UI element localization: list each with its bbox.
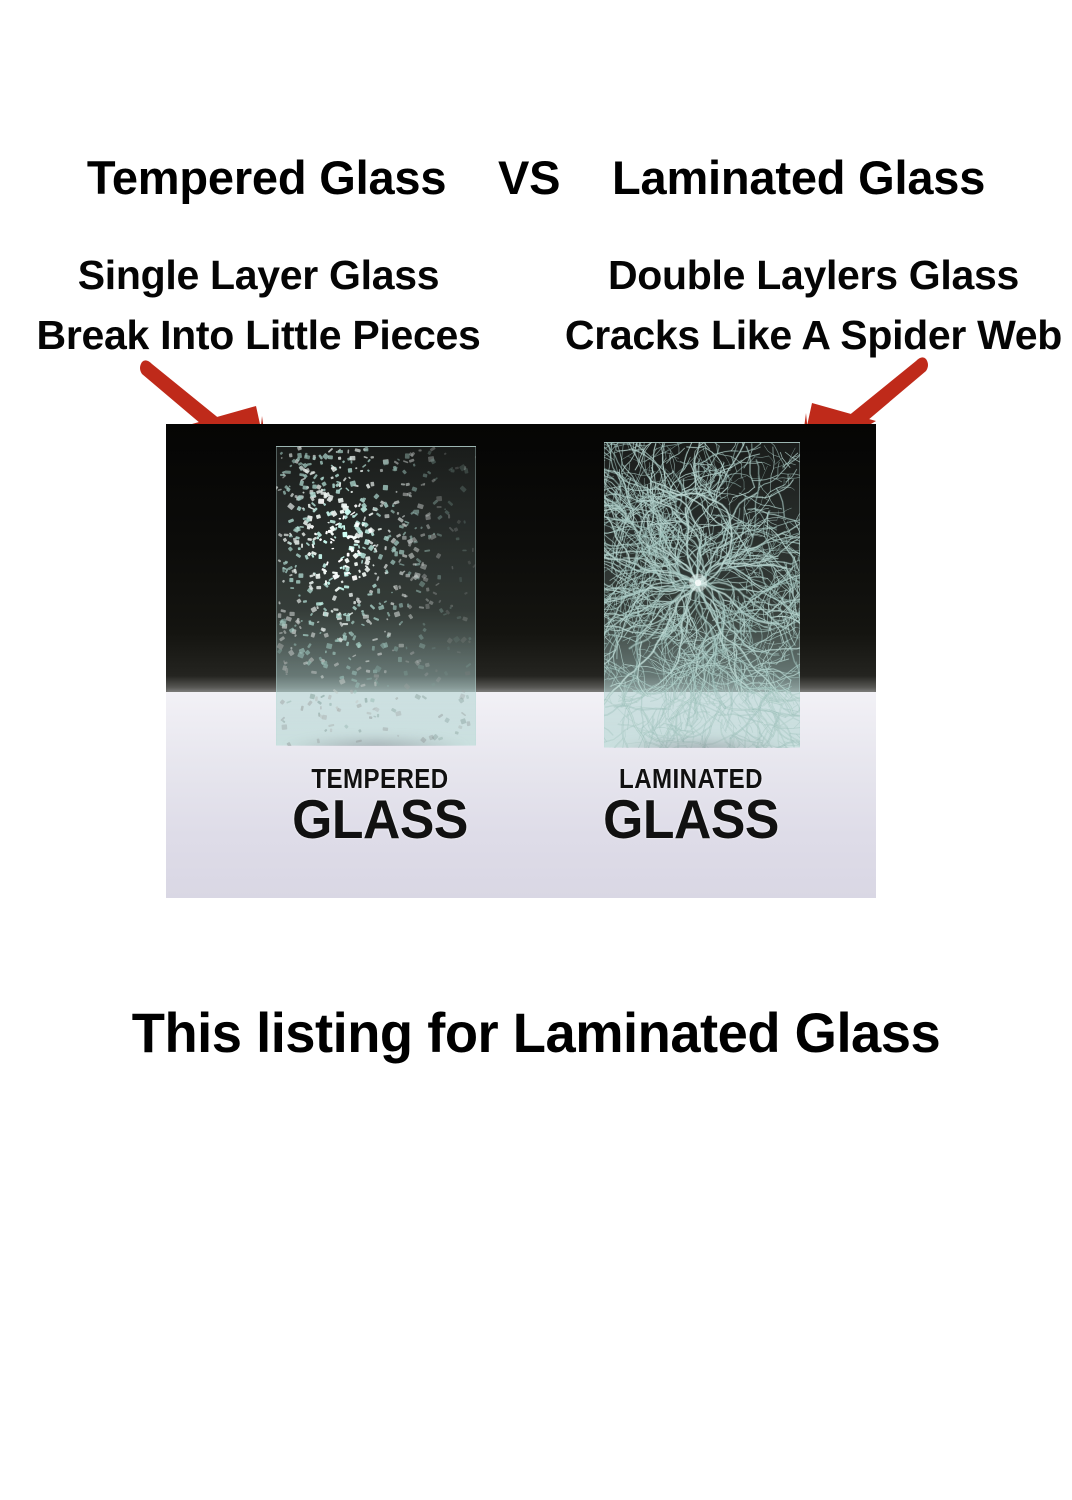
tempered-glass-panel (276, 446, 476, 746)
tempered-caption-line1: Single Layer Glass (0, 248, 539, 302)
headline-right-term: Laminated Glass (612, 151, 985, 204)
caption-row-primary: Single Layer Glass Double Laylers Glass (0, 248, 1072, 302)
caption-row-secondary: Break Into Little Pieces Cracks Like A S… (0, 308, 1072, 362)
laminated-panel-shadow (612, 736, 792, 748)
laminated-caption-line2: Cracks Like A Spider Web (539, 308, 1072, 362)
laminated-glass-panel (604, 442, 800, 748)
tempered-caption-line2: Break Into Little Pieces (0, 308, 539, 362)
laminated-caption-line1: Double Laylers Glass (539, 248, 1072, 302)
photo-label-tempered-big: GLASS (267, 791, 493, 847)
photo-label-laminated-big: GLASS (574, 791, 809, 847)
tempered-panel-shadow (284, 734, 468, 746)
tempered-shatter-pattern (276, 446, 476, 746)
headline-separator: VS (498, 151, 560, 204)
laminated-crack-pattern (604, 442, 800, 748)
photo-label-laminated: LAMINATED GLASS (566, 764, 816, 847)
headline-left-term: Tempered Glass (87, 151, 446, 204)
listing-note: This listing for Laminated Glass (16, 1000, 1056, 1065)
photo-label-tempered: TEMPERED GLASS (260, 764, 500, 847)
infographic-canvas: Tempered Glass VS Laminated Glass Single… (0, 0, 1072, 1500)
comparison-photo: TEMPERED GLASS LAMINATED GLASS (166, 424, 876, 898)
page-title: Tempered Glass VS Laminated Glass (0, 150, 1072, 205)
